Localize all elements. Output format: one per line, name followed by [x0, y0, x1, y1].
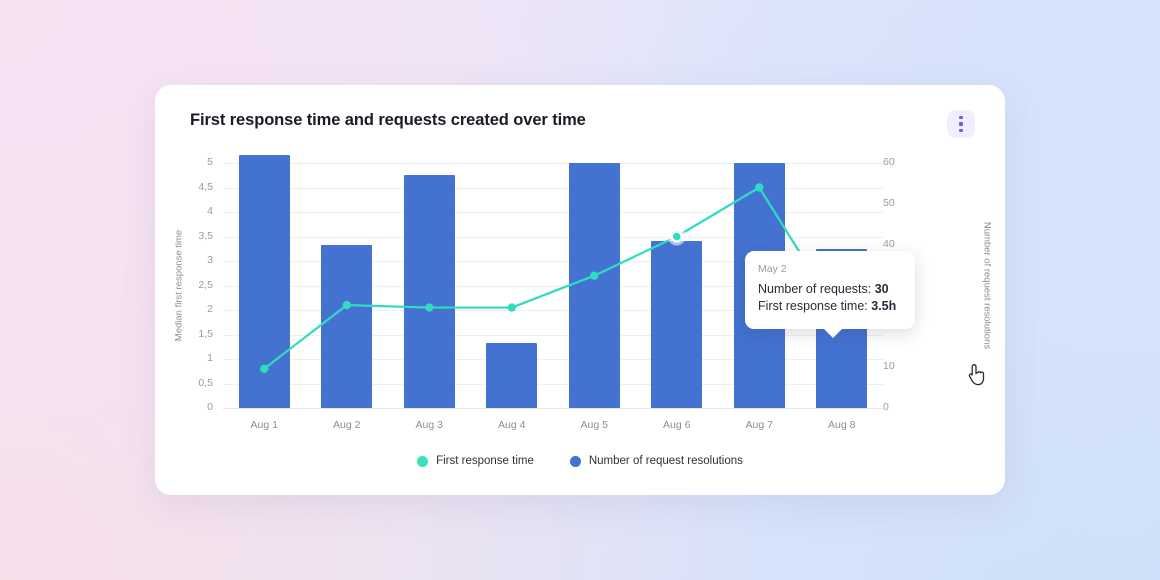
tooltip-response-value: 3.5h	[871, 299, 896, 313]
left-axis-tick: 0,5	[179, 377, 213, 389]
left-axis-tick: 3,5	[179, 230, 213, 242]
left-axis-tick: 2,5	[179, 279, 213, 291]
tooltip-response-label: First response time:	[758, 299, 868, 313]
left-axis-tick: 1	[179, 352, 213, 364]
right-axis-tick: 40	[883, 238, 917, 250]
legend-item[interactable]: First response time	[417, 455, 534, 467]
x-axis-tick: Aug 2	[333, 419, 360, 431]
legend-dot-icon	[570, 456, 581, 467]
left-axis-tick: 3	[179, 254, 213, 266]
line-point[interactable]	[508, 303, 516, 311]
right-axis-tick: 0	[883, 401, 917, 413]
right-axis-tick: 10	[883, 360, 917, 372]
left-axis-tick: 4,5	[179, 181, 213, 193]
left-axis-ticks: 54,543,532,521,510,50	[179, 85, 213, 495]
tooltip-requests-value: 30	[875, 282, 889, 296]
legend-label: First response time	[436, 455, 534, 467]
x-axis-tick: Aug 1	[251, 419, 278, 431]
line-point[interactable]	[343, 301, 351, 309]
x-axis-tick: Aug 3	[416, 419, 443, 431]
right-axis-tick: 60	[883, 156, 917, 168]
left-axis-tick: 5	[179, 156, 213, 168]
right-axis-tick: 50	[883, 197, 917, 209]
chart-legend: First response timeNumber of request res…	[155, 455, 1005, 467]
legend-dot-icon	[417, 456, 428, 467]
line-point-active[interactable]	[672, 232, 682, 242]
line-point[interactable]	[755, 183, 763, 191]
chart-tooltip: May 2 Number of requests: 30 First respo…	[745, 251, 915, 329]
left-axis-tick: 2	[179, 303, 213, 315]
right-axis-title: Number of request resolutions	[982, 221, 993, 351]
x-axis-tick: Aug 4	[498, 419, 525, 431]
left-axis-tick: 0	[179, 401, 213, 413]
left-axis-tick: 1,5	[179, 328, 213, 340]
tooltip-response-row: First response time: 3.5h	[758, 299, 902, 313]
legend-label: Number of request resolutions	[589, 455, 743, 467]
x-axis-line	[223, 408, 883, 409]
x-axis-tick: Aug 7	[746, 419, 773, 431]
chart-card: First response time and requests created…	[155, 85, 1005, 495]
line-point[interactable]	[425, 303, 433, 311]
tooltip-requests-label: Number of requests:	[758, 282, 871, 296]
tooltip-date: May 2	[758, 263, 902, 275]
line-point[interactable]	[590, 272, 598, 280]
x-axis-tick: Aug 5	[581, 419, 608, 431]
x-axis-tick: Aug 8	[828, 419, 855, 431]
line-point[interactable]	[260, 365, 268, 373]
tooltip-requests-row: Number of requests: 30	[758, 282, 902, 296]
x-axis-tick: Aug 6	[663, 419, 690, 431]
legend-item[interactable]: Number of request resolutions	[570, 455, 743, 467]
left-axis-tick: 4	[179, 205, 213, 217]
